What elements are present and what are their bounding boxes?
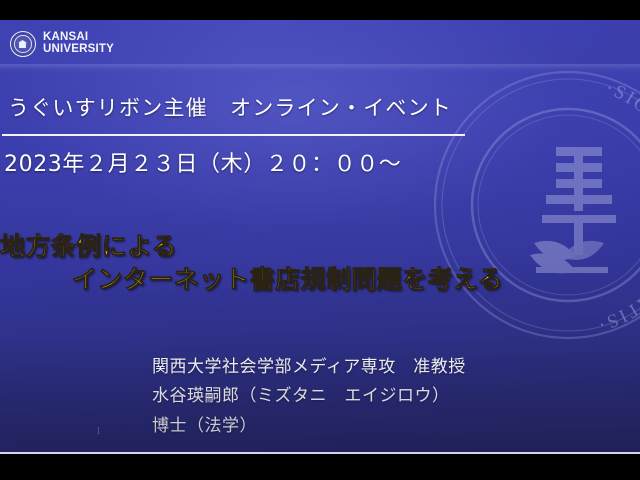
brand-name-line-2: UNIVERSITY [43,44,114,56]
brand-lockup: KANSAI UNIVERSITY [10,31,114,57]
brand-name: KANSAI UNIVERSITY [43,32,114,56]
presentation-slide: KANSAI UNIVERSITY ·SIGILLUM·UNIVERSITATI… [0,20,640,453]
event-host-underline [2,134,465,136]
letterbox-bottom-bar [0,455,640,480]
kansai-university-seal-icon [10,31,36,57]
slide-title-line-2: インターネット書店規制問題を考える [72,260,503,296]
svg-text:·SIGILLUM·UNIVERSITATIS·: ·SIGILLUM·UNIVERSITATIS· [594,78,640,336]
slide-header-sheen [0,64,640,74]
slide-page-number: 1 [96,426,101,437]
slide-title-line-1: 地方条例による [0,227,177,263]
video-player-stage: KANSAI UNIVERSITY ·SIGILLUM·UNIVERSITATI… [0,0,640,480]
speaker-degree: 博士（法学） [152,411,257,436]
speaker-name: 水谷瑛嗣郎（ミズタニ エイジロウ） [152,381,450,406]
letterbox-top-bar [0,0,640,20]
event-host-line: うぐいすリボン主催 オンライン・イベント [8,92,452,122]
event-datetime: 2023年２月２３日（木）２０：００〜 [4,146,401,178]
slide-bottom-edge [0,452,640,454]
speaker-affiliation: 関西大学社会学部メディア専攻 准教授 [152,352,466,377]
